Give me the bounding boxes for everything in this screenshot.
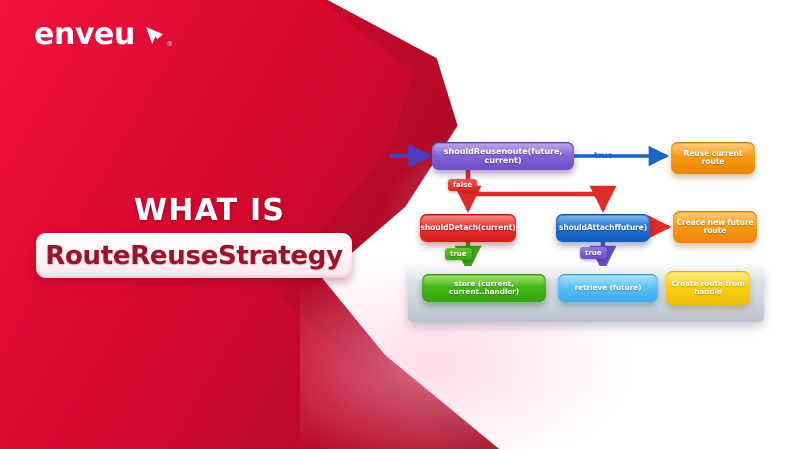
edge-label-true-mid: true xyxy=(580,247,607,259)
flow-node-create-route-from-handle[interactable]: Create route from handle xyxy=(666,271,750,305)
edge-label-false: false xyxy=(448,179,477,191)
headline-kicker-wrap: WHAT IS xyxy=(134,196,285,226)
page-title: RouteReuseStrategy xyxy=(45,243,342,269)
registered-mark: ® xyxy=(168,42,172,48)
headline-kicker: WHAT IS xyxy=(134,196,285,226)
edge-label-true-top: true xyxy=(589,149,618,162)
brand-name: enveu xyxy=(34,20,135,50)
flow-node-create-new-future-route[interactable]: Creace new future route xyxy=(673,211,757,243)
flow-node-should-attach[interactable]: shouldAttachffuture) xyxy=(556,214,650,242)
flowchart: shouldReusenoute(future, current) Reuse … xyxy=(390,128,790,333)
edge-label-true-left: true xyxy=(445,248,472,260)
slide-canvas: enveu ® WHAT IS RouteReuseStrategy xyxy=(0,0,800,449)
flow-node-should-reuse[interactable]: shouldReusenoute(future, current) xyxy=(432,142,574,170)
flow-node-store[interactable]: store (current, current..handler) xyxy=(422,274,546,302)
cursor-arrow-icon: ® xyxy=(143,25,165,47)
flow-node-should-detach[interactable]: shouldDetach(current) xyxy=(420,214,516,242)
flow-node-reuse-current-route[interactable]: Reuse current route xyxy=(671,142,755,174)
brand-logo: enveu ® xyxy=(34,20,165,50)
headline-title-pill: RouteReuseStrategy xyxy=(36,233,352,278)
flow-node-retrieve[interactable]: retrieve (future) xyxy=(558,274,658,302)
